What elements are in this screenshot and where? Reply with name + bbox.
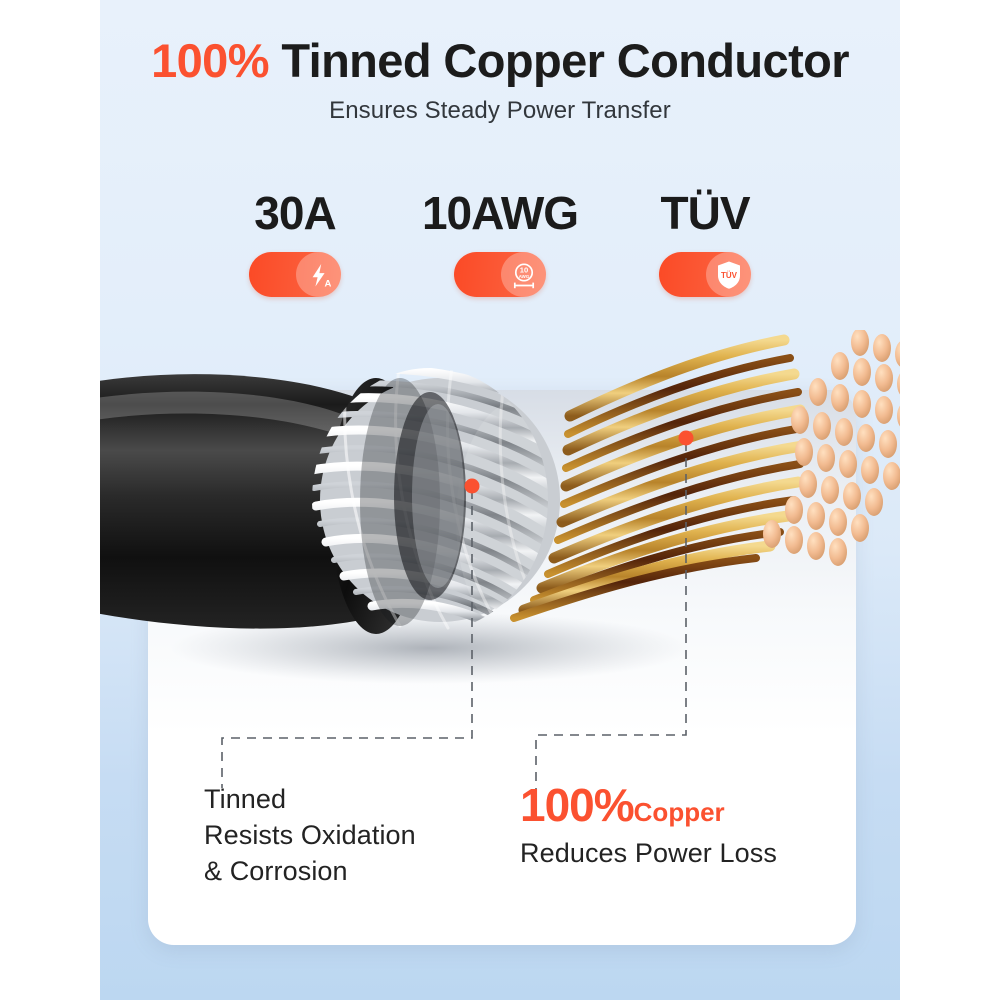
title-accent: 100% xyxy=(151,34,269,87)
callout-right-headline: 100%Copper xyxy=(520,782,777,828)
page-title: 100% Tinned Copper Conductor xyxy=(100,36,900,85)
spec-label-10awg: 10AWG xyxy=(422,190,578,236)
spec-pill-10awg: 10 AWG xyxy=(454,252,546,297)
spec-badge-30a: 30A A xyxy=(193,190,398,297)
callout-left-line3: & Corrosion xyxy=(204,854,416,890)
spec-label-tuv: TÜV xyxy=(661,190,750,236)
svg-text:TÜV: TÜV xyxy=(721,271,738,280)
spec-pill-30a: A xyxy=(249,252,341,297)
callout-right-sub: Reduces Power Loss xyxy=(520,838,777,869)
spec-label-30a: 30A xyxy=(254,190,335,236)
tuv-shield-icon: TÜV xyxy=(706,252,751,297)
svg-text:AWG: AWG xyxy=(518,274,529,279)
svg-text:A: A xyxy=(324,278,331,289)
headline-block: 100% Tinned Copper Conductor Ensures Ste… xyxy=(100,36,900,125)
spec-badge-row: 30A A 10AWG 10 AWG xyxy=(100,190,900,297)
awg-gauge-icon: 10 AWG xyxy=(501,252,546,297)
callout-left-line2: Resists Oxidation xyxy=(204,818,416,854)
callout-right-material: Copper xyxy=(634,797,725,827)
callout-tinned: Tinned Resists Oxidation & Corrosion xyxy=(204,782,416,890)
promo-panel: 100% Tinned Copper Conductor Ensures Ste… xyxy=(100,0,900,1000)
lightning-bolt-amp-icon: A xyxy=(296,252,341,297)
callout-copper: 100%Copper Reduces Power Loss xyxy=(520,782,777,869)
spec-pill-tuv: TÜV xyxy=(659,252,751,297)
spec-badge-10awg: 10AWG 10 AWG xyxy=(398,190,603,297)
spec-badge-tuv: TÜV TÜV xyxy=(603,190,808,297)
title-rest: Tinned Copper Conductor xyxy=(269,34,849,87)
subtitle: Ensures Steady Power Transfer xyxy=(100,97,900,125)
cable-cross-section xyxy=(100,330,900,690)
callout-left-line1: Tinned xyxy=(204,782,416,818)
callout-right-percent: 100% xyxy=(520,779,634,831)
